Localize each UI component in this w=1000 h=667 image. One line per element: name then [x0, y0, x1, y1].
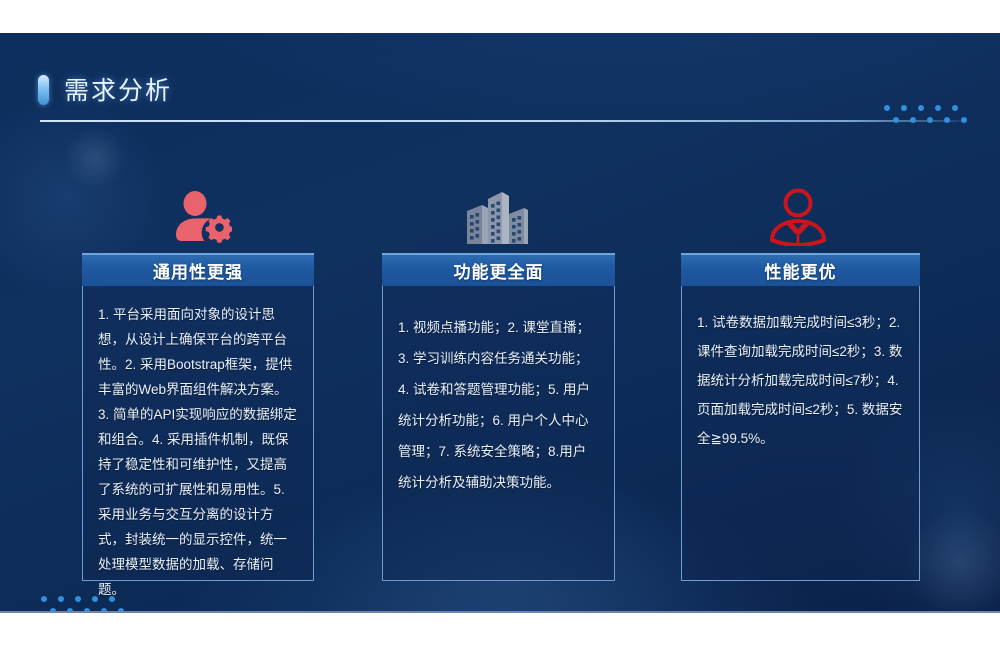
page-title: 需求分析	[64, 71, 172, 107]
card-header-performance: 性能更优	[681, 253, 920, 286]
user-gear-icon	[168, 190, 232, 251]
card-text: 1. 试卷数据加载完成时间≤3秒；2. 课件查询加载完成时间≤2秒；3. 数据统…	[697, 308, 904, 453]
header-divider	[40, 120, 962, 122]
card-text: 1. 视频点播功能；2. 课堂直播；3. 学习训练内容任务通关功能；4. 试卷和…	[398, 312, 599, 498]
card-generality[interactable]: 通用性更强 1. 平台采用面向对象的设计思想，从设计上确保平台的跨平台性。2. …	[82, 253, 314, 581]
dot	[901, 105, 907, 111]
dot	[893, 117, 899, 123]
background-glow-5	[60, 123, 130, 193]
dot	[67, 608, 73, 613]
dot	[50, 608, 56, 613]
card-features[interactable]: 功能更全面 1. 视频点播功能；2. 课堂直播；3. 学习训练内容任务通关功能；…	[382, 253, 615, 581]
dot	[961, 117, 967, 123]
title-pill-icon	[38, 75, 49, 105]
dot-row	[50, 608, 135, 613]
card-text: 1. 平台采用面向对象的设计思想，从设计上确保平台的跨平台性。2. 采用Boot…	[98, 302, 298, 602]
dot	[935, 105, 941, 111]
dot-row	[893, 117, 978, 123]
dot	[101, 608, 107, 613]
card-performance[interactable]: 性能更优 1. 试卷数据加载完成时间≤3秒；2. 课件查询加载完成时间≤2秒；3…	[681, 253, 920, 581]
dot-row	[884, 105, 978, 111]
dot	[910, 117, 916, 123]
dot	[927, 117, 933, 123]
card-title: 功能更全面	[454, 258, 544, 283]
card-body-performance: 1. 试卷数据加载完成时间≤3秒；2. 课件查询加载完成时间≤2秒；3. 数据统…	[681, 286, 920, 581]
dot	[118, 608, 124, 613]
dot	[84, 608, 90, 613]
dot	[952, 105, 958, 111]
dot	[918, 105, 924, 111]
card-body-generality: 1. 平台采用面向对象的设计思想，从设计上确保平台的跨平台性。2. 采用Boot…	[82, 286, 314, 581]
card-title: 性能更优	[765, 258, 837, 283]
slide-header: 需求分析	[38, 67, 962, 129]
card-title: 通用性更强	[153, 258, 243, 283]
card-header-features: 功能更全面	[382, 253, 615, 286]
dot	[75, 596, 81, 602]
dot	[944, 117, 950, 123]
card-header-generality: 通用性更强	[82, 253, 314, 286]
card-body-features: 1. 视频点播功能；2. 课堂直播；3. 学习训练内容任务通关功能；4. 试卷和…	[382, 286, 615, 581]
slide-canvas: 需求分析	[0, 33, 1000, 613]
dot-grid-top-right	[884, 105, 978, 123]
dot	[58, 596, 64, 602]
buildings-icon	[462, 188, 532, 251]
business-person-icon	[768, 188, 828, 251]
dot	[41, 596, 47, 602]
dot	[884, 105, 890, 111]
